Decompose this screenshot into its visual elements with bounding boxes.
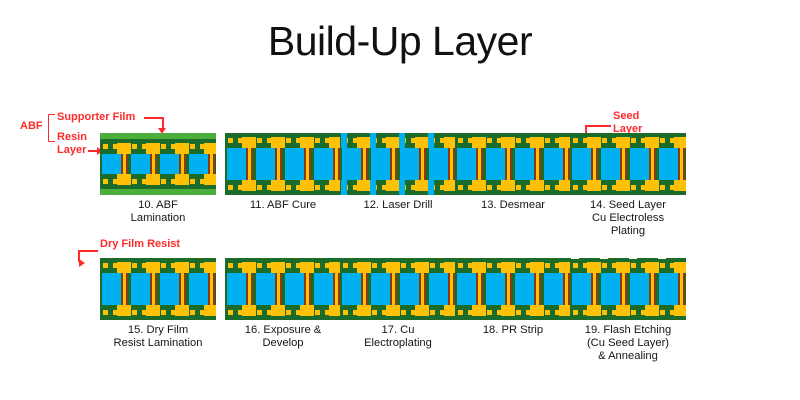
via-copper [536,148,539,180]
via-copper [306,148,309,180]
copper-trace-dot [382,263,387,268]
supporter-film-leader-h [144,117,164,119]
copper-trace-dot [257,263,262,268]
copper-trace-dot [190,144,195,149]
copper-trace-dot [113,144,118,149]
copper-trace-dot [430,310,435,315]
copper-trace-dot [103,263,108,268]
copper-trace-dot [526,263,531,268]
copper-trace-dot [190,310,195,315]
core-dielectric [486,148,505,180]
copper-trace-dot [631,138,636,143]
via-copper [622,148,625,180]
core-dielectric [189,273,208,305]
copper-trace-dot [286,185,291,190]
core-dielectric [515,148,534,180]
via-copper [210,154,213,174]
core-dielectric [630,273,649,305]
copper-trace-dot [267,185,272,190]
copper-trace-dot [631,185,636,190]
process-step-16[interactable]: 16. Exposure & Develop [225,258,341,320]
via-copper [651,273,654,305]
copper-trace-dot [382,185,387,190]
annotation-supporter-film-label: Supporter Film [57,111,135,124]
copper-trace-dot [315,138,320,143]
core-dielectric [285,148,304,180]
cross-section [225,258,341,320]
copper-trace-dot [660,310,665,315]
copper-trace-dot [286,310,291,315]
copper-trace-dot [315,263,320,268]
copper-trace-dot [113,263,118,268]
process-step-19[interactable]: 19. Flash Etching (Cu Seed Layer) & Anne… [570,258,686,320]
via-copper [392,273,395,305]
copper-trace-dot [325,310,330,315]
cross-section [570,258,686,320]
core-dielectric [457,273,476,305]
copper-trace-dot [353,138,358,143]
copper-trace-dot [228,185,233,190]
copper-trace-dot [382,138,387,143]
copper-trace-dot [142,263,147,268]
copper-trace-dot [516,310,521,315]
laser-drill-opening [399,133,405,148]
copper-trace-dot [458,310,463,315]
core-dielectric [429,273,448,305]
via-copper [181,154,184,174]
via-copper [123,154,126,174]
copper-trace-dot [573,138,578,143]
copper-trace-dot [286,263,291,268]
copper-trace-dot [296,138,301,143]
unit-cell [570,258,599,320]
copper-trace-dot [641,185,646,190]
copper-trace-dot [430,263,435,268]
via-copper [277,148,280,180]
via-copper [565,148,568,180]
copper-trace-dot [190,179,195,184]
via-copper [507,273,510,305]
core-dielectric [457,148,476,180]
copper-trace-dot [132,263,137,268]
copper-pad-bottom [674,180,686,191]
copper-trace-dot [660,263,665,268]
via-copper [651,148,654,180]
copper-trace-dot [545,263,550,268]
via-copper [593,148,596,180]
unit-cell [427,258,456,320]
via-copper [622,273,625,305]
copper-trace-dot [267,138,272,143]
copper-trace-dot [142,144,147,149]
annotation-abf-label: ABF [20,120,43,133]
copper-trace-dot [238,185,243,190]
via-copper [680,273,683,305]
copper-trace-dot [526,185,531,190]
cross-section [340,258,456,320]
unit-cell [225,258,254,320]
copper-trace-dot [113,310,118,315]
copper-trace-dot [497,310,502,315]
copper-pad-top [674,262,686,273]
copper-trace-dot [315,185,320,190]
copper-trace-dot [670,310,675,315]
unit-cell [100,258,129,320]
copper-trace-dot [670,263,675,268]
copper-trace-dot [545,310,550,315]
copper-trace-dot [468,185,473,190]
laser-drill-opening [370,133,376,148]
copper-trace-dot [612,263,617,268]
core-dielectric [314,148,333,180]
copper-trace-dot [171,179,176,184]
unit-cell [312,258,341,320]
cross-section [455,258,571,320]
via-copper [565,273,568,305]
process-step-14[interactable]: 14. Seed Layer Cu Electroless Plating [570,133,686,195]
copper-trace-dot [497,263,502,268]
copper-pad-bottom [674,305,686,316]
core-dielectric [342,273,361,305]
etched-seed-gap [571,258,579,259]
copper-trace-dot [573,263,578,268]
copper-pad-top [674,137,686,148]
unit-cell [340,258,369,320]
unit-cell [542,258,571,320]
process-step-17[interactable]: 17. Cu Electroplating [340,258,456,320]
via-copper [478,148,481,180]
cross-section [340,133,456,195]
unit-cell [657,258,686,320]
core-dielectric [227,148,246,180]
copper-trace-dot [315,310,320,315]
core-dielectric [371,148,390,180]
process-step-10[interactable]: 10. ABF Lamination [100,133,216,195]
step-caption-19: 19. Flash Etching (Cu Seed Layer) & Anne… [553,324,703,364]
core-dielectric [659,273,678,305]
copper-trace-dot [516,138,521,143]
copper-trace-dot [411,263,416,268]
etched-seed-gap [629,258,637,259]
copper-trace-dot [353,263,358,268]
copper-trace-dot [468,138,473,143]
copper-pad-bottom [204,174,216,185]
copper-trace-dot [641,263,646,268]
unit-cell [513,133,542,195]
via-copper [152,273,155,305]
via-copper [450,148,453,180]
copper-trace-dot [458,138,463,143]
copper-trace-dot [228,310,233,315]
unit-cell [570,133,599,195]
via-copper [306,273,309,305]
core-dielectric [572,148,591,180]
core-dielectric [285,273,304,305]
copper-trace-dot [257,310,262,315]
core-dielectric [515,273,534,305]
core-dielectric [544,148,563,180]
via-copper [421,273,424,305]
copper-pad-bottom [204,305,216,316]
core-dielectric [371,273,390,305]
copper-trace-dot [555,138,560,143]
copper-trace-dot [583,263,588,268]
copper-trace-dot [612,310,617,315]
copper-trace-dot [670,138,675,143]
unit-cell [455,258,484,320]
copper-trace-dot [190,263,195,268]
copper-trace-dot [343,310,348,315]
copper-trace-dot [573,185,578,190]
laser-drill-opening [341,180,347,195]
process-step-15[interactable]: 15. Dry Film Resist Lamination [100,258,216,320]
step-caption-14: 14. Seed Layer Cu Electroless Plating [553,199,703,239]
copper-trace-dot [602,138,607,143]
copper-trace-dot [555,185,560,190]
annotation-dry-film-resist-label: Dry Film Resist [100,238,180,251]
via-copper [123,273,126,305]
via-copper [536,273,539,305]
via-copper [248,273,251,305]
copper-trace-dot [103,179,108,184]
core-dielectric [601,148,620,180]
copper-trace-dot [142,310,147,315]
copper-trace-dot [660,138,665,143]
core-dielectric [659,148,678,180]
via-copper [593,273,596,305]
copper-trace-dot [238,263,243,268]
copper-trace-dot [382,310,387,315]
copper-trace-dot [296,185,301,190]
copper-trace-dot [238,310,243,315]
copper-trace-dot [497,138,502,143]
cross-section [570,133,686,195]
etched-seed-gap [658,258,666,259]
copper-trace-dot [161,263,166,268]
copper-trace-dot [132,179,137,184]
unit-cell [484,133,513,195]
via-copper [392,148,395,180]
copper-trace-dot [372,263,377,268]
unit-cell [484,258,513,320]
via-copper [507,148,510,180]
copper-trace-dot [487,263,492,268]
copper-trace-dot [545,185,550,190]
copper-pad-top [204,262,216,273]
copper-trace-dot [526,138,531,143]
copper-trace-dot [411,138,416,143]
core-dielectric [102,154,121,174]
unit-cell [455,133,484,195]
unit-cell [513,258,542,320]
unit-cell [187,133,216,195]
via-copper [450,273,453,305]
copper-trace-dot [583,138,588,143]
copper-trace-dot [440,263,445,268]
copper-trace-dot [670,185,675,190]
unit-cell [542,133,571,195]
core-dielectric [256,148,275,180]
core-dielectric [342,148,361,180]
core-dielectric [544,273,563,305]
copper-trace-dot [325,138,330,143]
copper-trace-dot [325,185,330,190]
unit-cell [312,133,341,195]
copper-trace-dot [545,138,550,143]
core-dielectric [486,273,505,305]
copper-trace-dot [583,185,588,190]
copper-trace-dot [142,179,147,184]
copper-trace-dot [228,138,233,143]
copper-trace-dot [468,310,473,315]
copper-trace-dot [602,310,607,315]
copper-trace-dot [171,144,176,149]
core-dielectric [131,154,150,174]
copper-trace-dot [401,310,406,315]
via-copper [210,273,213,305]
annotation-resin-layer-label: Resin Layer [57,131,87,157]
copper-trace-dot [103,310,108,315]
copper-trace-dot [487,138,492,143]
copper-trace-dot [257,185,262,190]
copper-trace-dot [401,263,406,268]
copper-trace-dot [612,138,617,143]
unit-cell [158,133,187,195]
unit-cell [657,133,686,195]
copper-trace-dot [411,185,416,190]
laser-drill-opening [428,133,434,148]
unit-cell [599,258,628,320]
cross-section [100,133,216,195]
via-copper [478,273,481,305]
copper-trace-dot [631,263,636,268]
copper-trace-dot [612,185,617,190]
copper-trace-dot [458,263,463,268]
via-copper [363,273,366,305]
copper-trace-dot [200,144,205,149]
unit-cell [254,258,283,320]
copper-trace-dot [200,263,205,268]
copper-trace-dot [526,310,531,315]
copper-trace-dot [631,310,636,315]
copper-trace-dot [353,185,358,190]
copper-trace-dot [555,263,560,268]
copper-trace-dot [411,310,416,315]
copper-trace-dot [516,263,521,268]
copper-trace-dot [353,310,358,315]
unit-cell [599,133,628,195]
unit-cell [283,258,312,320]
core-dielectric [601,273,620,305]
unit-cell [129,258,158,320]
unit-cell [187,258,216,320]
copper-trace-dot [343,263,348,268]
laser-drill-opening [428,180,434,195]
core-dielectric [102,273,121,305]
unit-cell [158,258,187,320]
core-dielectric [400,148,419,180]
process-step-13[interactable]: 13. Desmear [455,133,571,195]
copper-trace-dot [487,185,492,190]
unit-cell [369,258,398,320]
copper-trace-dot [641,138,646,143]
copper-trace-dot [161,144,166,149]
laser-drill-opening [341,133,347,148]
core-dielectric [227,273,246,305]
copper-pad-top [204,143,216,154]
copper-trace-dot [132,144,137,149]
via-copper [248,148,251,180]
process-step-18[interactable]: 18. PR Strip [455,258,571,320]
core-dielectric [572,273,591,305]
copper-trace-dot [458,185,463,190]
copper-trace-dot [497,185,502,190]
dfr-arrow-icon [79,259,85,267]
via-copper [335,273,338,305]
copper-trace-dot [296,310,301,315]
core-dielectric [256,273,275,305]
core-dielectric [630,148,649,180]
core-dielectric [189,154,208,174]
cross-section [225,133,341,195]
copper-trace-dot [171,310,176,315]
copper-trace-dot [267,263,272,268]
copper-trace-dot [440,185,445,190]
laser-drill-opening [370,180,376,195]
copper-trace-dot [296,263,301,268]
core-dielectric [160,273,179,305]
via-copper [277,273,280,305]
via-copper [152,154,155,174]
via-copper [335,148,338,180]
copper-trace-dot [171,263,176,268]
abf-bracket [48,114,55,142]
unit-cell [100,133,129,195]
laser-drill-opening [399,180,405,195]
copper-trace-dot [286,138,291,143]
copper-trace-dot [516,185,521,190]
copper-trace-dot [440,138,445,143]
copper-trace-dot [103,144,108,149]
unit-cell [129,133,158,195]
core-dielectric [314,273,333,305]
cross-section [455,133,571,195]
copper-trace-dot [602,263,607,268]
seed-layer-leader-h [585,125,611,127]
via-copper [680,148,683,180]
etched-seed-gap [600,258,608,259]
core-dielectric [160,154,179,174]
unit-cell [628,258,657,320]
copper-trace-dot [228,263,233,268]
via-copper [421,148,424,180]
process-step-12[interactable]: 12. Laser Drill [340,133,456,195]
unit-cell [225,133,254,195]
process-step-11[interactable]: 11. ABF Cure [225,133,341,195]
copper-trace-dot [113,179,118,184]
copper-trace-dot [641,310,646,315]
copper-trace-dot [325,263,330,268]
copper-trace-dot [161,310,166,315]
copper-trace-dot [573,310,578,315]
via-copper [181,273,184,305]
copper-trace-dot [602,185,607,190]
core-dielectric [131,273,150,305]
copper-trace-dot [267,310,272,315]
copper-trace-dot [487,310,492,315]
unit-cell [628,133,657,195]
copper-trace-dot [372,310,377,315]
